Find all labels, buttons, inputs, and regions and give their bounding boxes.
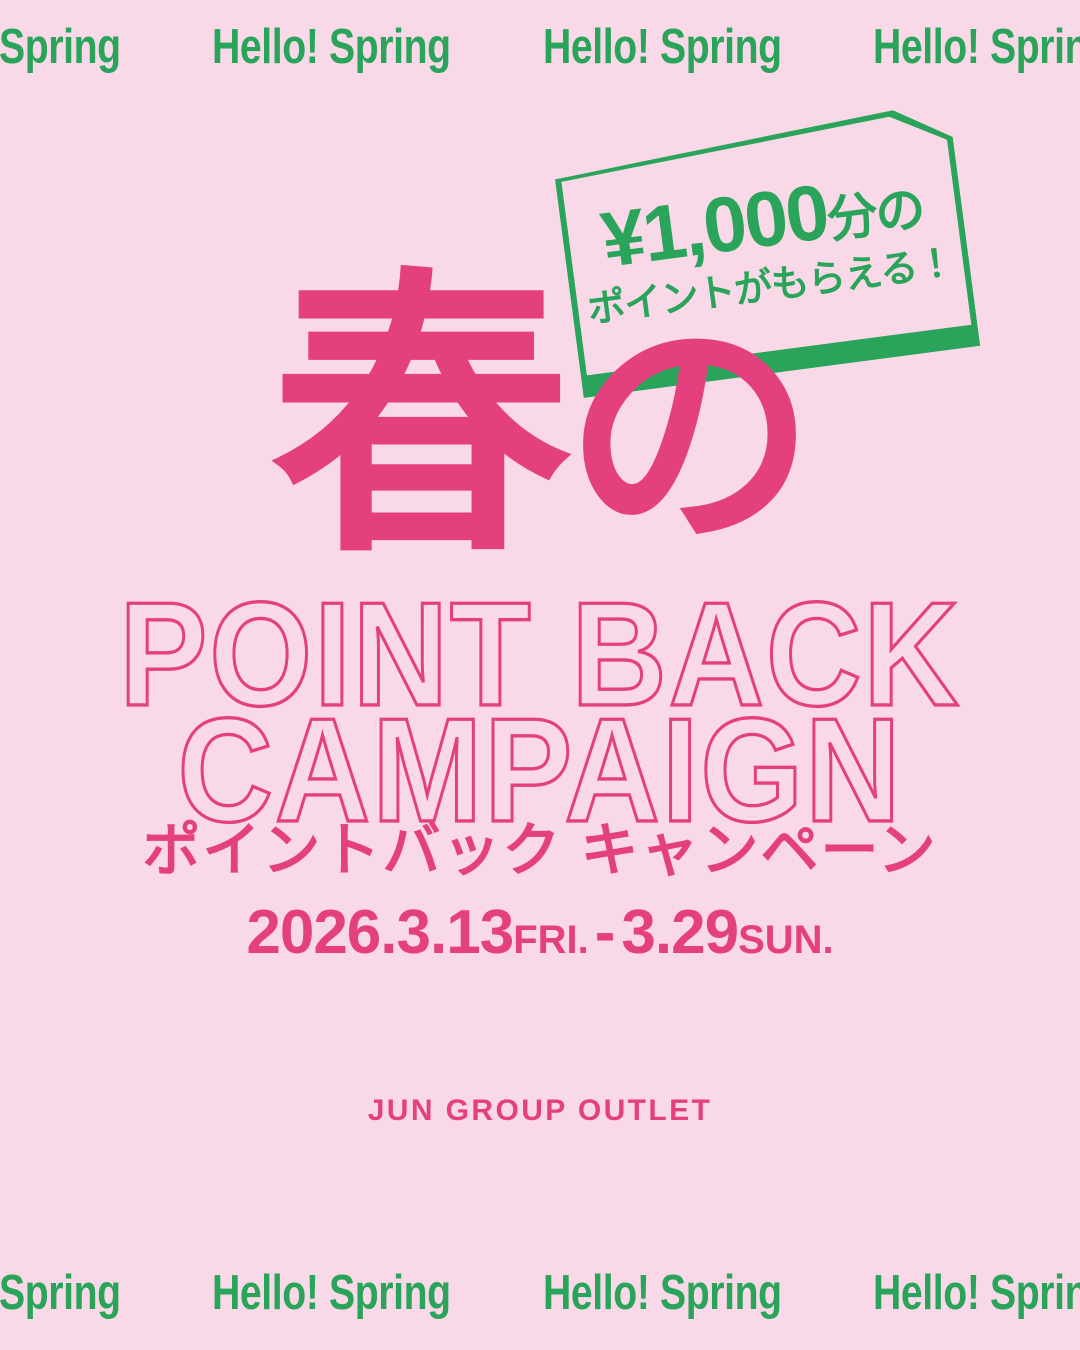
badge-amount-suffix: 分の — [824, 180, 926, 248]
kanji-headline: 春の — [0, 268, 1080, 568]
marquee-strip-bottom: Hello! Spring Hello! Spring Hello! Sprin… — [0, 1258, 1080, 1328]
marquee-item: Hello! Spring — [212, 1269, 476, 1318]
period-end-date: 3.29 — [621, 898, 738, 967]
period-end-dow: SUN. — [738, 918, 834, 962]
marquee-item: Hello! Spring — [0, 1269, 146, 1318]
period-separator: - — [589, 898, 622, 967]
marquee-track-bottom: Hello! Spring Hello! Spring Hello! Sprin… — [0, 1269, 1080, 1318]
subtitle-katakana: ポイントバック キャンペーン — [0, 822, 1080, 880]
marquee-item: Hello! Spring — [543, 23, 807, 72]
marquee-item: Hello! Spring — [543, 1269, 807, 1318]
kanji-particle-no: の — [565, 296, 809, 575]
campaign-poster: Hello! Spring Hello! Spring Hello! Sprin… — [0, 0, 1080, 1350]
marquee-track-top: Hello! Spring Hello! Spring Hello! Sprin… — [0, 23, 1080, 72]
marquee-item: Hello! Spring — [0, 23, 146, 72]
period-start-date: 2026.3.13 — [246, 898, 513, 967]
marquee-item: Hello! Spring — [212, 23, 476, 72]
brand-name: JUN GROUP OUTLET — [0, 1096, 1080, 1126]
title-line-campaign: CAMPAIGN — [0, 700, 1080, 827]
marquee-strip-top: Hello! Spring Hello! Spring Hello! Sprin… — [0, 12, 1080, 82]
marquee-item: Hello! Spring — [873, 1269, 1080, 1318]
period-start-dow: FRI. — [513, 918, 589, 962]
campaign-period: 2026.3.13FRI.-3.29SUN. — [0, 902, 1080, 964]
marquee-item: Hello! Spring — [873, 23, 1080, 72]
kanji-spring: 春 — [271, 250, 565, 586]
